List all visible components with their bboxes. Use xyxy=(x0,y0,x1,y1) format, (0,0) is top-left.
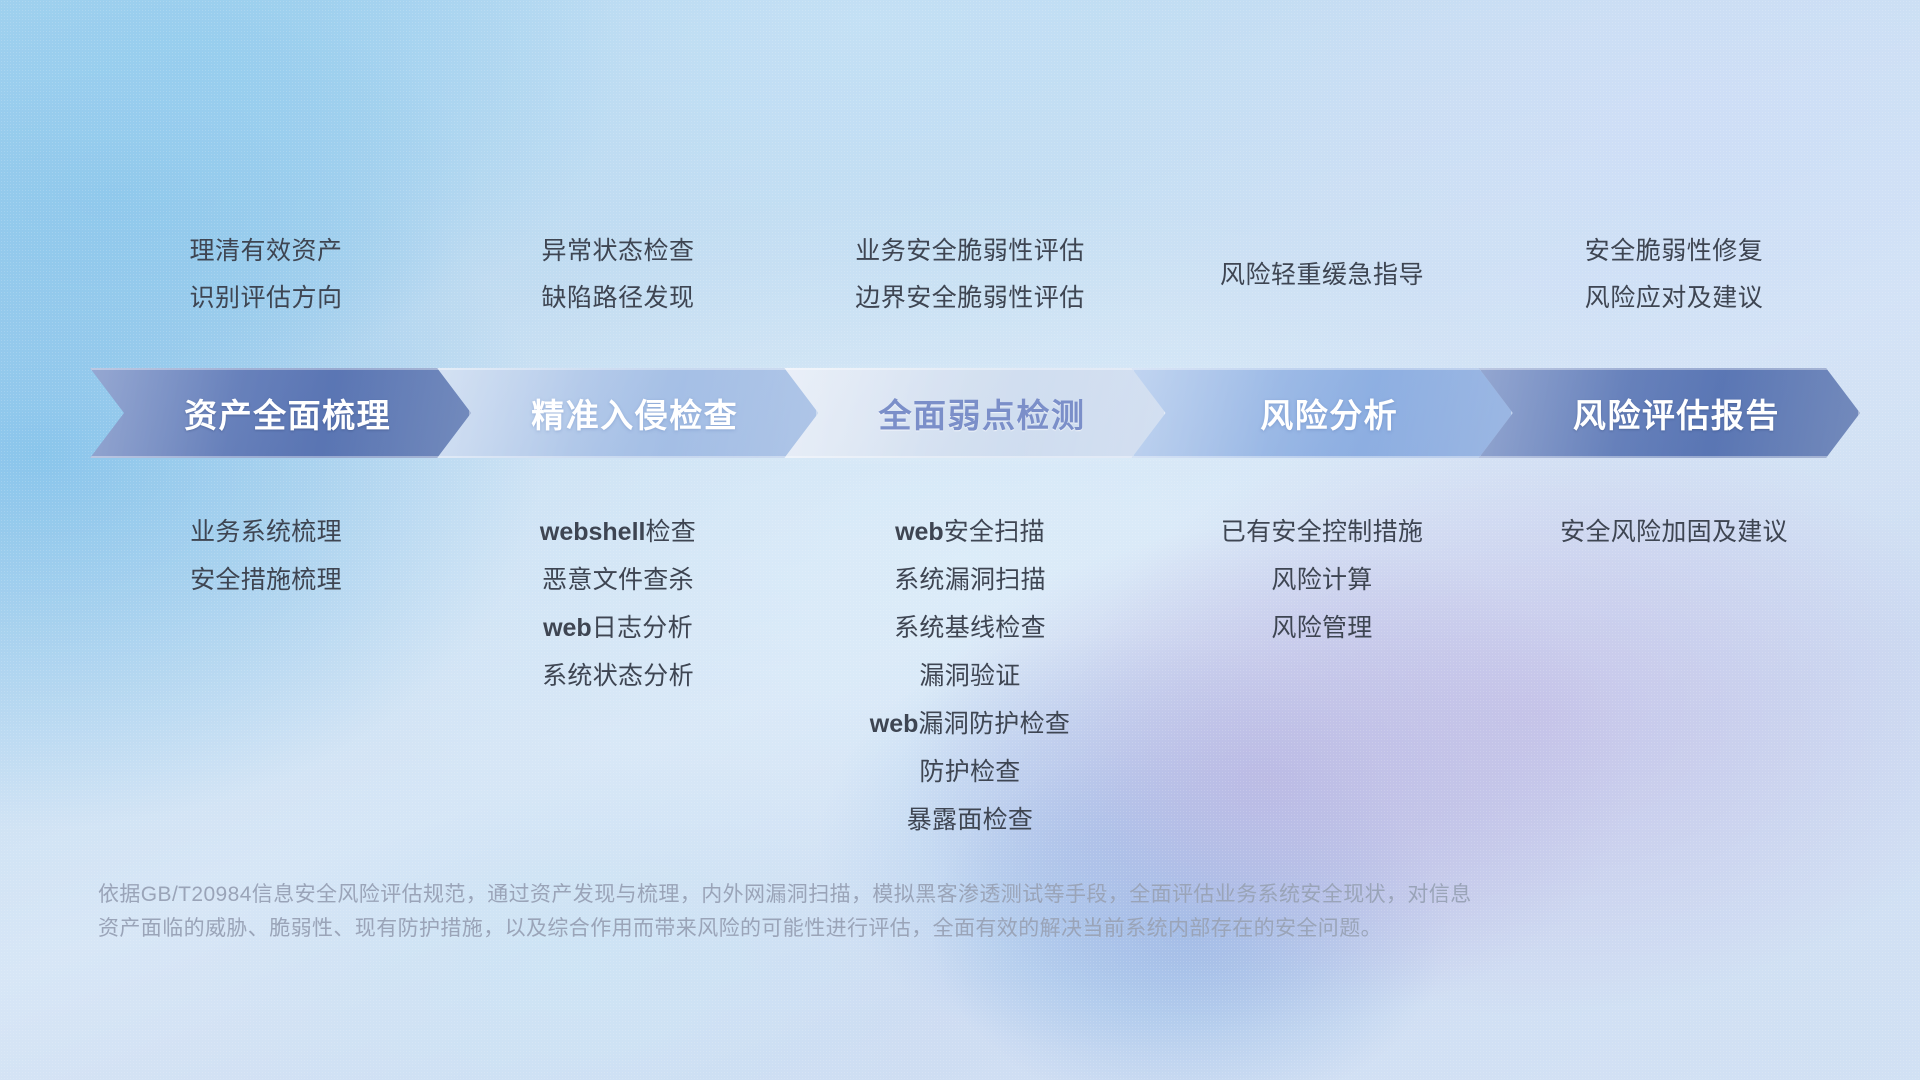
caption: 识别评估方向 xyxy=(96,275,436,322)
stage-outputs-3: web安全扫描系统漏洞扫描系统基线检查漏洞验证web漏洞防护检查防护检查暴露面检… xyxy=(794,508,1146,844)
process-diagram: 理清有效资产 识别评估方向 异常状态检查 缺陷路径发现 业务安全脆弱性评估 边界… xyxy=(0,0,1920,1080)
output-item: 安全风险加固及建议 xyxy=(1502,508,1846,556)
stage-chevron-2[interactable]: 精准入侵检查 xyxy=(437,368,818,458)
footer-line-2: 资产面临的威胁、脆弱性、现有防护措施，以及综合作用而带来风险的可能性进行评估，全… xyxy=(98,912,1618,946)
stage-inputs-row: 理清有效资产 识别评估方向 异常状态检查 缺陷路径发现 业务安全脆弱性评估 边界… xyxy=(90,228,1850,322)
output-item-latin: web xyxy=(543,614,592,642)
stage-chevron-4[interactable]: 风险分析 xyxy=(1132,368,1513,458)
stage-outputs-1: 业务系统梳理安全措施梳理 xyxy=(90,508,442,604)
stage-outputs-2: webshell检查恶意文件查杀web日志分析系统状态分析 xyxy=(442,508,794,700)
output-item: web安全扫描 xyxy=(798,508,1142,556)
output-item: 业务系统梳理 xyxy=(94,508,438,556)
stage-title: 风险评估报告 xyxy=(1573,389,1780,437)
caption: 安全脆弱性修复 xyxy=(1504,228,1844,275)
output-item: web漏洞防护检查 xyxy=(798,700,1142,748)
stage-title: 资产全面梳理 xyxy=(184,389,391,437)
output-item: 已有安全控制措施 xyxy=(1150,508,1494,556)
stage-chevron-band: 资产全面梳理 精准入侵检查 全面弱点检测 风险分析 风险评估报告 xyxy=(90,368,1860,458)
stage-outputs-row: 业务系统梳理安全措施梳理 webshell检查恶意文件查杀web日志分析系统状态… xyxy=(90,508,1850,844)
caption: 风险应对及建议 xyxy=(1504,275,1844,322)
output-item: 防护检查 xyxy=(798,748,1142,796)
output-item: 风险计算 xyxy=(1150,556,1494,604)
output-item: 漏洞验证 xyxy=(798,652,1142,700)
stage-chevron-3[interactable]: 全面弱点检测 xyxy=(784,368,1165,458)
stage-title: 全面弱点检测 xyxy=(879,389,1086,437)
output-item: 恶意文件查杀 xyxy=(446,556,790,604)
stage-chevron-1[interactable]: 资产全面梳理 xyxy=(90,368,471,458)
output-item: 风险管理 xyxy=(1150,604,1494,652)
caption: 业务安全脆弱性评估 xyxy=(800,228,1140,275)
output-item-latin: web xyxy=(895,518,944,546)
output-item: web日志分析 xyxy=(446,604,790,652)
output-item: 安全措施梳理 xyxy=(94,556,438,604)
stage-title: 风险分析 xyxy=(1260,389,1398,437)
output-item-latin: web xyxy=(870,710,919,738)
stage-outputs-4: 已有安全控制措施风险计算风险管理 xyxy=(1146,508,1498,652)
caption: 边界安全脆弱性评估 xyxy=(800,275,1140,322)
caption: 异常状态检查 xyxy=(448,228,788,275)
output-item: 系统状态分析 xyxy=(446,652,790,700)
footer-line-1: 依据GB/T20984信息安全风险评估规范，通过资产发现与梳理，内外网漏洞扫描，… xyxy=(98,878,1618,912)
output-item: webshell检查 xyxy=(446,508,790,556)
stage-inputs-4: 风险轻重缓急指导 xyxy=(1146,228,1498,322)
stage-inputs-1: 理清有效资产 识别评估方向 xyxy=(90,228,442,322)
caption: 理清有效资产 xyxy=(96,228,436,275)
output-item: 系统基线检查 xyxy=(798,604,1142,652)
output-item: 暴露面检查 xyxy=(798,796,1142,844)
stage-inputs-3: 业务安全脆弱性评估 边界安全脆弱性评估 xyxy=(794,228,1146,322)
output-item-latin: webshell xyxy=(540,518,646,546)
output-item: 系统漏洞扫描 xyxy=(798,556,1142,604)
stage-inputs-5: 安全脆弱性修复 风险应对及建议 xyxy=(1498,228,1850,322)
caption: 风险轻重缓急指导 xyxy=(1152,228,1492,322)
stage-outputs-5: 安全风险加固及建议 xyxy=(1498,508,1850,556)
stage-title: 精准入侵检查 xyxy=(531,389,738,437)
stage-inputs-2: 异常状态检查 缺陷路径发现 xyxy=(442,228,794,322)
caption: 缺陷路径发现 xyxy=(448,275,788,322)
stage-chevron-5[interactable]: 风险评估报告 xyxy=(1479,368,1860,458)
footer-description: 依据GB/T20984信息安全风险评估规范，通过资产发现与梳理，内外网漏洞扫描，… xyxy=(98,878,1618,946)
